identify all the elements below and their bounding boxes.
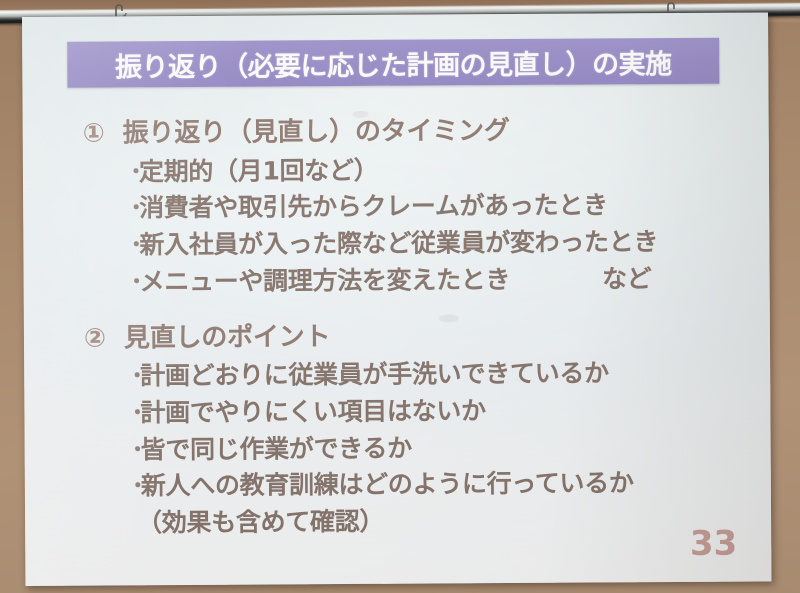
list-item: ・ 新入社員が入った際など従業員が変わったとき xyxy=(23,223,769,264)
bullet-dot-icon: ・ xyxy=(126,194,139,223)
slide-content: 振り返り（必要に応じた計画の見直し）の実施 ① 振り返り（見直し）のタイミング … xyxy=(22,12,771,586)
bullet-dot-icon: ・ xyxy=(128,435,141,464)
list-item-text: 皆で同じ作業ができるか xyxy=(141,430,412,468)
section-2-bullets: ・ 計画どおりに従業員が手洗いできているか ・ 計画でやりにくい項目はないか ・… xyxy=(24,354,771,506)
section-2-title: 見直しのポイント xyxy=(124,318,331,359)
list-item: ・ 計画どおりに従業員が手洗いできているか xyxy=(24,354,770,395)
list-item: ・ 皆で同じ作業ができるか xyxy=(25,428,771,469)
list-item: ・ 消費者や取引先からクレームがあったとき xyxy=(23,187,769,228)
slide-title-band: 振り返り（必要に応じた計画の見直し）の実施 xyxy=(67,38,719,88)
list-item: ・ 計画でやりにくい項目はないか xyxy=(24,391,770,432)
list-item-text: メニューや調理方法を変えたとき xyxy=(140,262,511,301)
bullet-dot-icon: ・ xyxy=(126,157,139,186)
section-1-bullets: ・ 定期的（月1回など） ・ 消費者や取引先からクレームがあったとき ・ 新入社… xyxy=(23,150,770,302)
section-2-heading: ② 見直しのポイント xyxy=(24,315,770,359)
slide-body: ① 振り返り（見直し）のタイミング ・ 定期的（月1回など） ・ 消費者や取引先… xyxy=(23,110,772,544)
section-1-title: 振り返り（見直し）のタイミング xyxy=(123,112,510,154)
bullet-dot-icon: ・ xyxy=(127,361,140,390)
slide-title: 振り返り（必要に応じた計画の見直し）の実施 xyxy=(115,42,672,84)
list-item-text: 消費者や取引先からクレームがあったとき xyxy=(139,188,608,228)
section-2-continuation: （効果も含めて確認） xyxy=(25,501,771,542)
section-1-number: ① xyxy=(83,114,123,154)
list-item-text: 新入社員が入った際など従業員が変わったとき xyxy=(139,224,658,264)
section-2-number: ② xyxy=(84,319,124,359)
section-1-heading: ① 振り返り（見直し）のタイミング xyxy=(23,110,769,154)
bullet-dot-icon: ・ xyxy=(127,267,140,296)
list-item-trailing-note: など xyxy=(602,261,651,298)
list-item: ・ メニューや調理方法を変えたとき など xyxy=(24,260,770,301)
list-item: ・ 新人への教育訓練はどのように行っているか xyxy=(25,465,771,506)
photograph-of-slide: 振り返り（必要に応じた計画の見直し）の実施 ① 振り返り（見直し）のタイミング … xyxy=(0,0,800,593)
page-number: 33 xyxy=(690,524,738,564)
section-1: ① 振り返り（見直し）のタイミング ・ 定期的（月1回など） ・ 消費者や取引先… xyxy=(23,110,770,301)
bullet-dot-icon: ・ xyxy=(127,398,140,427)
list-item-text: 計画でやりにくい項目はないか xyxy=(140,393,486,432)
list-item-text: 計画どおりに従業員が手洗いできているか xyxy=(140,355,609,395)
bullet-dot-icon: ・ xyxy=(128,472,141,501)
list-item-text: 定期的（月1回など） xyxy=(139,152,379,190)
section-2: ② 見直しのポイント ・ 計画どおりに従業員が手洗いできているか ・ 計画でやり… xyxy=(24,315,771,543)
list-item: ・ 定期的（月1回など） xyxy=(23,150,769,191)
bullet-dot-icon: ・ xyxy=(126,230,139,259)
printed-slide-sheet: 振り返り（必要に応じた計画の見直し）の実施 ① 振り返り（見直し）のタイミング … xyxy=(22,12,771,586)
list-item-text: 新人への教育訓練はどのように行っているか xyxy=(141,466,634,506)
